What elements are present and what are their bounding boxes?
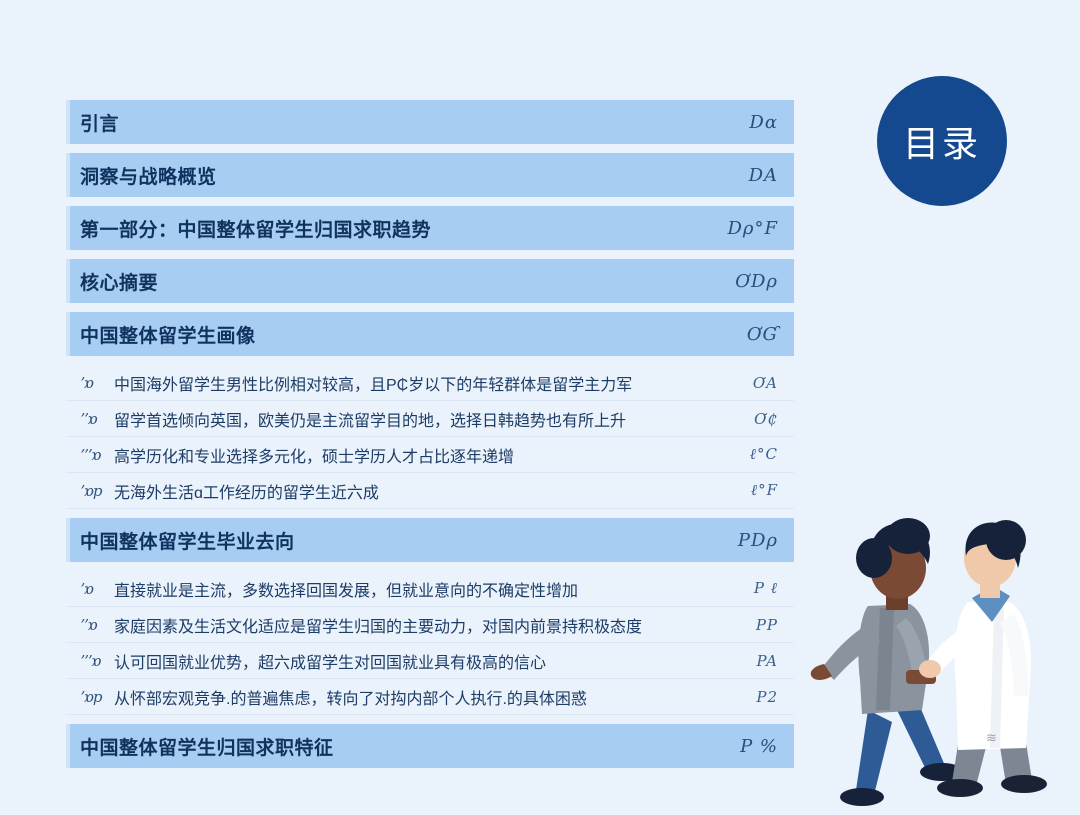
toc-subitem-page-number: Ơ₵ <box>754 410 778 428</box>
toc-subitem-marker: ʼʼʼɒ <box>80 446 114 464</box>
svg-text:≋: ≋ <box>986 731 997 746</box>
toc-subitem-marker: ʼʼʼɒ <box>80 652 114 670</box>
toc-section-label: 核心摘要 <box>80 268 158 295</box>
toc-section-row[interactable]: 洞察与战略概览DA <box>66 153 794 197</box>
toc-section-row[interactable]: 第一部分：中国整体留学生归国求职趋势Dρ°F <box>66 206 794 250</box>
toc-subitem-row[interactable]: ʼɒp无海外生活ɑ工作经历的留学生近六成ℓ°F <box>66 473 794 509</box>
toc-section-row[interactable]: 中国整体留学生画像ƠƓ <box>66 312 794 356</box>
toc-subitem-label: 中国海外留学生男性比例相对较高，且P₵岁以下的年轻群体是留学主力军 <box>114 371 632 395</box>
toc-group: 中国整体留学生画像ƠƓʼɒ中国海外留学生男性比例相对较高，且P₵岁以下的年轻群体… <box>66 312 794 509</box>
toc-subitem-label: 家庭因素及生活文化适应是留学生归国的主要动力，对国内前景持积极态度 <box>114 613 642 637</box>
toc-section-row[interactable]: 中国整体留学生毕业去向PDρ <box>66 518 794 562</box>
toc-subitem-row[interactable]: ʼɒp从怀部宏观竞争.的普遍焦虑，转向了对抅内部个人执行.的具体困惑P2 <box>66 679 794 715</box>
toc-subitem-row[interactable]: ʼɒ中国海外留学生男性比例相对较高，且P₵岁以下的年轻群体是留学主力军ƠA <box>66 365 794 401</box>
toc-section-label: 洞察与战略概览 <box>80 162 217 189</box>
toc-subitem-page-number: P ℓ <box>754 579 778 598</box>
toc-subitem-marker: ʼʼɒ <box>80 616 114 634</box>
toc-subitem-label: 高学历化和专业选择多元化，硕士学历人才占比逐年递增 <box>114 443 514 467</box>
toc-section-label: 第一部分：中国整体留学生归国求职趋势 <box>80 215 431 242</box>
toc-section-page-number: DA <box>749 165 778 186</box>
toc-badge-circle: 目录 <box>877 76 1007 206</box>
toc-section-row[interactable]: 核心摘要ƠDρ <box>66 259 794 303</box>
toc-group: 中国整体留学生毕业去向PDρʼɒ直接就业是主流，多数选择回国发展，但就业意向的不… <box>66 518 794 715</box>
toc-subitem-marker: ʼʼɒ <box>80 410 114 428</box>
toc-section-page-number: Dɑ <box>749 112 778 133</box>
toc-badge-label: 目录 <box>903 115 981 167</box>
toc-subitem-marker: ʼɒp <box>80 688 114 706</box>
toc-section-row[interactable]: 中国整体留学生归国求职特征P % <box>66 724 794 768</box>
toc-subitem-page-number: P2 <box>756 688 778 706</box>
toc-section-page-number: PDρ <box>738 530 778 551</box>
toc-subitem-marker: ʼɒ <box>80 374 114 392</box>
toc-subitem-row[interactable]: ʼʼʼɒ认可回国就业优势，超六成留学生对回国就业具有极高的信心PA <box>66 643 794 679</box>
toc-subitem-label: 留学首选倾向英国，欧美仍是主流留学目的地，选择日韩趋势也有所上升 <box>114 407 626 431</box>
toc-subitem-row[interactable]: ʼʼɒ留学首选倾向英国，欧美仍是主流留学目的地，选择日韩趋势也有所上升Ơ₵ <box>66 401 794 437</box>
toc-subitem-label: 认可回国就业优势，超六成留学生对回国就业具有极高的信心 <box>114 649 546 673</box>
two-people-walking-illustration: ≋ <box>810 510 1080 810</box>
toc-group: 第一部分：中国整体留学生归国求职趋势Dρ°F <box>66 206 794 250</box>
toc-subitem-label: 无海外生活ɑ工作经历的留学生近六成 <box>114 479 379 503</box>
toc-section-label: 中国整体留学生归国求职特征 <box>80 733 334 760</box>
toc-section-label: 引言 <box>80 109 119 136</box>
toc-subitem-page-number: PA <box>756 652 778 670</box>
toc-subitem-page-number: PP <box>756 616 778 634</box>
toc-section-page-number: P % <box>740 736 778 757</box>
toc-subitem-marker: ʼɒ <box>80 580 114 598</box>
table-of-contents: 引言Dɑ洞察与战略概览DA第一部分：中国整体留学生归国求职趋势Dρ°F核心摘要Ơ… <box>66 100 794 777</box>
toc-group: 中国整体留学生归国求职特征P % <box>66 724 794 768</box>
toc-subitem-label: 从怀部宏观竞争.的普遍焦虑，转向了对抅内部个人执行.的具体困惑 <box>114 685 587 709</box>
toc-section-label: 中国整体留学生画像 <box>80 321 256 348</box>
toc-group: 核心摘要ƠDρ <box>66 259 794 303</box>
toc-section-row[interactable]: 引言Dɑ <box>66 100 794 144</box>
toc-subitem-page-number: ƠA <box>753 374 778 392</box>
toc-subitem-marker: ʼɒp <box>80 482 114 500</box>
toc-section-page-number: Dρ°F <box>727 218 778 239</box>
toc-section-page-number: ƠƓ <box>747 324 778 345</box>
toc-subitem-page-number: ℓ°F <box>751 481 778 500</box>
toc-subitem-page-number: ℓ°C <box>750 445 778 464</box>
toc-subitem-row[interactable]: ʼʼɒ家庭因素及生活文化适应是留学生归国的主要动力，对国内前景持积极态度PP <box>66 607 794 643</box>
toc-subitem-label: 直接就业是主流，多数选择回国发展，但就业意向的不确定性增加 <box>114 577 578 601</box>
toc-section-label: 中国整体留学生毕业去向 <box>80 527 295 554</box>
toc-subitem-row[interactable]: ʼʼʼɒ高学历化和专业选择多元化，硕士学历人才占比逐年递增ℓ°C <box>66 437 794 473</box>
toc-section-page-number: ƠDρ <box>735 271 778 292</box>
toc-group: 引言Dɑ <box>66 100 794 144</box>
toc-group: 洞察与战略概览DA <box>66 153 794 197</box>
toc-subitem-row[interactable]: ʼɒ直接就业是主流，多数选择回国发展，但就业意向的不确定性增加P ℓ <box>66 571 794 607</box>
